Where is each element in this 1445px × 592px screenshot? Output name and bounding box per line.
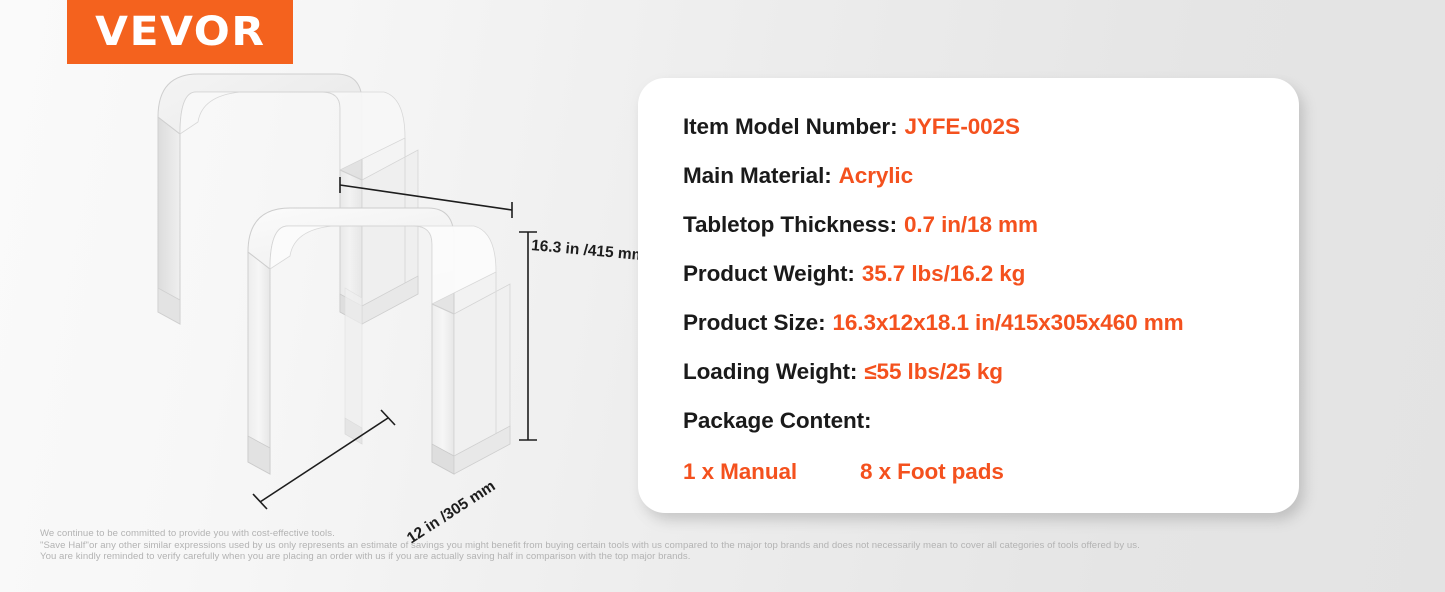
spec-value: Acrylic xyxy=(839,163,913,189)
spec-value: JYFE-002S xyxy=(904,114,1019,140)
product-illustration: 16.3 in /415 mm 18.1 in / 460 mm 12 in /… xyxy=(140,62,590,522)
spec-label: Product Weight: xyxy=(683,261,855,287)
spec-row-package-content: Package Content: xyxy=(683,396,1281,445)
disclaimer-line-2: "Save Half"or any other similar expressi… xyxy=(40,540,1330,552)
spec-value: 0.7 in/18 mm xyxy=(904,212,1038,238)
spec-row-product-weight: Product Weight: 35.7 lbs/16.2 kg xyxy=(683,249,1281,298)
spec-row-main-material: Main Material: Acrylic xyxy=(683,151,1281,200)
package-content-items: 1 x Manual 8 x Foot pads xyxy=(683,445,1281,496)
disclaimer-text: We continue to be committed to provide y… xyxy=(40,528,1330,563)
back-table xyxy=(158,74,418,324)
package-item-manual: 1 x Manual xyxy=(683,459,797,485)
specification-card: Item Model Number: JYFE-002S Main Materi… xyxy=(638,78,1299,513)
product-spec-banner: VEVOR xyxy=(0,0,1445,592)
spec-label: Product Size: xyxy=(683,310,825,336)
vevor-logo: VEVOR xyxy=(67,0,293,64)
specification-list: Item Model Number: JYFE-002S Main Materi… xyxy=(683,102,1281,496)
nesting-tables-drawing xyxy=(140,62,590,522)
disclaimer-line-1: We continue to be committed to provide y… xyxy=(40,528,1330,540)
spec-value: ≤55 lbs/25 kg xyxy=(864,359,1003,385)
spec-label: Main Material: xyxy=(683,163,832,189)
spec-label: Tabletop Thickness: xyxy=(683,212,897,238)
spec-row-product-size: Product Size: 16.3x12x18.1 in/415x305x46… xyxy=(683,298,1281,347)
spec-label: Loading Weight: xyxy=(683,359,857,385)
spec-row-item-model-number: Item Model Number: JYFE-002S xyxy=(683,102,1281,151)
spec-value: 35.7 lbs/16.2 kg xyxy=(862,261,1026,287)
spec-value: 16.3x12x18.1 in/415x305x460 mm xyxy=(832,310,1183,336)
spec-label: Item Model Number: xyxy=(683,114,897,140)
vevor-logo-text: VEVOR xyxy=(95,12,265,52)
spec-row-loading-weight: Loading Weight: ≤55 lbs/25 kg xyxy=(683,347,1281,396)
package-item-foot-pads: 8 x Foot pads xyxy=(860,459,1004,485)
spec-label: Package Content: xyxy=(683,408,871,434)
spec-row-tabletop-thickness: Tabletop Thickness: 0.7 in/18 mm xyxy=(683,200,1281,249)
disclaimer-line-3: You are kindly reminded to verify carefu… xyxy=(40,551,1330,563)
